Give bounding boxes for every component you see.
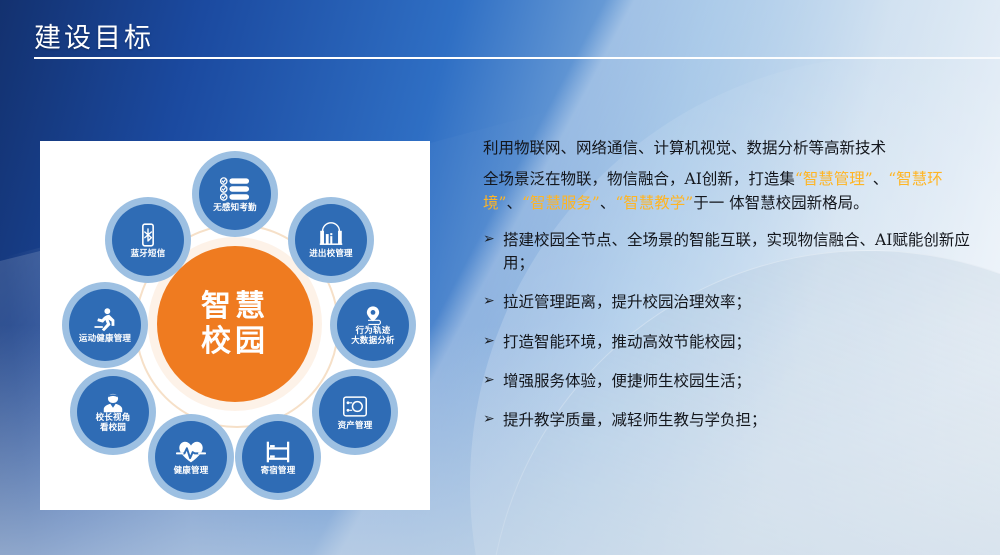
list-item: ➢ 提升教学质量，减轻师生教与学负担；: [483, 409, 983, 431]
wheel-node-health-label: 健康管理: [174, 467, 209, 477]
wheel-node-health[interactable]: 健康管理: [148, 414, 234, 500]
center-node-smart-campus[interactable]: 智慧 校园: [157, 246, 313, 402]
wheel-node-access[interactable]: 进出校管理: [288, 197, 374, 283]
para2-seg3: 、: [506, 194, 522, 212]
wheel-node-bluetooth-disc: 蓝牙短信: [112, 204, 184, 276]
page-title: 建设目标: [34, 16, 154, 55]
content-column: 利用物联网、网络通信、计算机视觉、数据分析等高新技术 全场景泛在物联，物信融合，…: [483, 136, 983, 449]
smart-campus-wheel: 智慧 校园 无感知考勤: [40, 141, 430, 510]
wheel-node-principal-disc: 校长视角 看校园: [77, 376, 149, 448]
center-label-line1: 智慧: [201, 289, 269, 324]
list-item: ➢ 拉近管理距离，提升校园治理效率；: [483, 291, 983, 313]
wheel-node-sport-disc: 运动健康管理: [69, 289, 141, 361]
bullet-arrow-icon: ➢: [483, 229, 503, 249]
wheel-node-dorm[interactable]: 寄宿管理: [235, 414, 321, 500]
location-pin-icon: [358, 306, 388, 326]
wheel-node-attendance-disc: 无感知考勤: [199, 158, 271, 230]
wheel-node-trajectory-disc: 行为轨迹 大数据分析: [337, 289, 409, 361]
bullet-text: 搭建校园全节点、全场景的智能互联，实现物信融合、AI赋能创新应用；: [503, 229, 983, 274]
checklist-icon: [220, 176, 250, 202]
para2-seg2: 、: [873, 170, 889, 188]
wheel-node-dorm-disc: 寄宿管理: [242, 421, 314, 493]
gate-icon: [316, 222, 346, 248]
wheel-node-asset[interactable]: 资产管理: [312, 369, 398, 455]
wheel-node-attendance-label: 无感知考勤: [213, 204, 257, 214]
bunk-bed-icon: [263, 439, 293, 465]
wheel-node-bluetooth[interactable]: 蓝牙短信: [105, 197, 191, 283]
goal-bullet-list: ➢ 搭建校园全节点、全场景的智能互联，实现物信融合、AI赋能创新应用； ➢ 拉近…: [483, 229, 983, 432]
center-label-line2: 校园: [201, 324, 269, 359]
running-person-icon: [90, 307, 120, 333]
bullet-text: 提升教学质量，减轻师生教与学负担；: [503, 409, 983, 431]
bullet-arrow-icon: ➢: [483, 409, 503, 429]
para2-highlight-3: “智慧服务”: [522, 194, 600, 212]
wheel-node-health-disc: 健康管理: [155, 421, 227, 493]
wheel-node-principal-label-2: 看校园: [100, 424, 126, 434]
wheel-node-bluetooth-label: 蓝牙短信: [131, 250, 166, 260]
wheel-node-trajectory-label-2: 大数据分析: [351, 337, 395, 347]
wheel-node-asset-disc: 资产管理: [319, 376, 391, 448]
wheel-node-access-label: 进出校管理: [309, 250, 353, 260]
wheel-node-principal[interactable]: 校长视角 看校园: [70, 369, 156, 455]
list-item: ➢ 打造智能环境，推动高效节能校园；: [483, 331, 983, 353]
para2-seg5: 于一 体智慧校园新格局。: [693, 194, 868, 212]
bullet-arrow-icon: ➢: [483, 291, 503, 311]
para2-highlight-4: “智慧教学”: [615, 194, 693, 212]
heart-pulse-icon: [176, 439, 206, 465]
safe-vault-icon: [340, 394, 370, 420]
bullet-text: 拉近管理距离，提升校园治理效率；: [503, 291, 983, 313]
wheel-node-asset-label: 资产管理: [338, 422, 373, 432]
intro-paragraph-1: 利用物联网、网络通信、计算机视觉、数据分析等高新技术: [483, 136, 983, 161]
wheel-node-access-disc: 进出校管理: [295, 204, 367, 276]
bullet-text: 打造智能环境，推动高效节能校园；: [503, 331, 983, 353]
title-divider: [34, 57, 1000, 59]
wheel-node-sport[interactable]: 运动健康管理: [62, 282, 148, 368]
wheel-node-attendance[interactable]: 无感知考勤: [192, 151, 278, 237]
bullet-text: 增强服务体验，便捷师生校园生活；: [503, 370, 983, 392]
list-item: ➢ 搭建校园全节点、全场景的智能互联，实现物信融合、AI赋能创新应用；: [483, 229, 983, 274]
wheel-node-trajectory[interactable]: 行为轨迹 大数据分析: [330, 282, 416, 368]
para2-seg1: 全场景泛在物联，物信融合，AI创新，打造集: [483, 170, 795, 188]
diagram-panel: 智慧 校园 无感知考勤: [40, 141, 430, 510]
bullet-arrow-icon: ➢: [483, 331, 503, 351]
list-item: ➢ 增强服务体验，便捷师生校园生活；: [483, 370, 983, 392]
wheel-node-dorm-label: 寄宿管理: [261, 467, 296, 477]
intro-paragraph-2: 全场景泛在物联，物信融合，AI创新，打造集“智慧管理”、“智慧环境”、“智慧服务…: [483, 167, 983, 215]
slide-root: 建设目标 智慧 校园: [0, 0, 1000, 555]
principal-person-icon: [98, 393, 128, 413]
bluetooth-phone-icon: [133, 222, 163, 248]
wheel-node-sport-label: 运动健康管理: [79, 335, 131, 345]
bullet-arrow-icon: ➢: [483, 370, 503, 390]
para2-highlight-1: “智慧管理”: [795, 170, 873, 188]
para2-seg4: 、: [600, 194, 616, 212]
